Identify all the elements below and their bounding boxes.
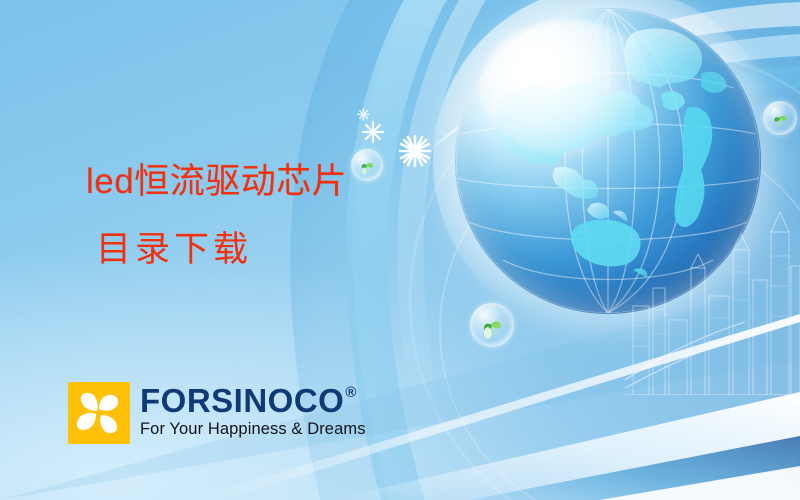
- sprout-icon: [768, 108, 792, 130]
- banner-canvas: led恒流驱动芯片 目录下载 FORSINOCO ® For Your Happ…: [0, 0, 800, 500]
- logo-tagline: For Your Happiness & Dreams: [140, 420, 366, 439]
- globe-continents-and-grid: [455, 8, 761, 314]
- bubble-sprout-large: [470, 303, 514, 347]
- globe-specular-gloss: [479, 20, 656, 155]
- brand-logo[interactable]: FORSINOCO ® For Your Happiness & Dreams: [68, 382, 366, 444]
- logo-text-block: FORSINOCO ® For Your Happiness & Dreams: [140, 382, 366, 439]
- starburst-icon: [362, 121, 384, 143]
- diagonal-bands-graphic: [0, 240, 800, 500]
- globe-sphere: [455, 8, 761, 314]
- globe-halo: [433, 0, 783, 336]
- registered-trademark-icon: ®: [345, 385, 357, 400]
- pinwheel-icon: [68, 382, 130, 444]
- forsinoco-pinwheel-mark: [68, 382, 130, 444]
- globe-rim-highlight: [455, 8, 761, 314]
- globe-graphic: [455, 8, 761, 314]
- logo-wordmark-text: FORSINOCO: [140, 384, 344, 417]
- starburst-icon: [398, 134, 432, 168]
- bubble-sprout-small: [351, 149, 383, 181]
- logo-wordmark: FORSINOCO ®: [140, 384, 366, 417]
- headline-line-2: 目录下载: [96, 232, 252, 267]
- starburst-tiny-icon: [357, 108, 370, 121]
- sprout-icon: [356, 156, 378, 176]
- headline-line-1: led恒流驱动芯片: [86, 164, 347, 199]
- sprout-icon: [477, 312, 508, 340]
- bubble-sprout-right: [763, 101, 797, 135]
- city-skyline-graphic: [625, 210, 800, 395]
